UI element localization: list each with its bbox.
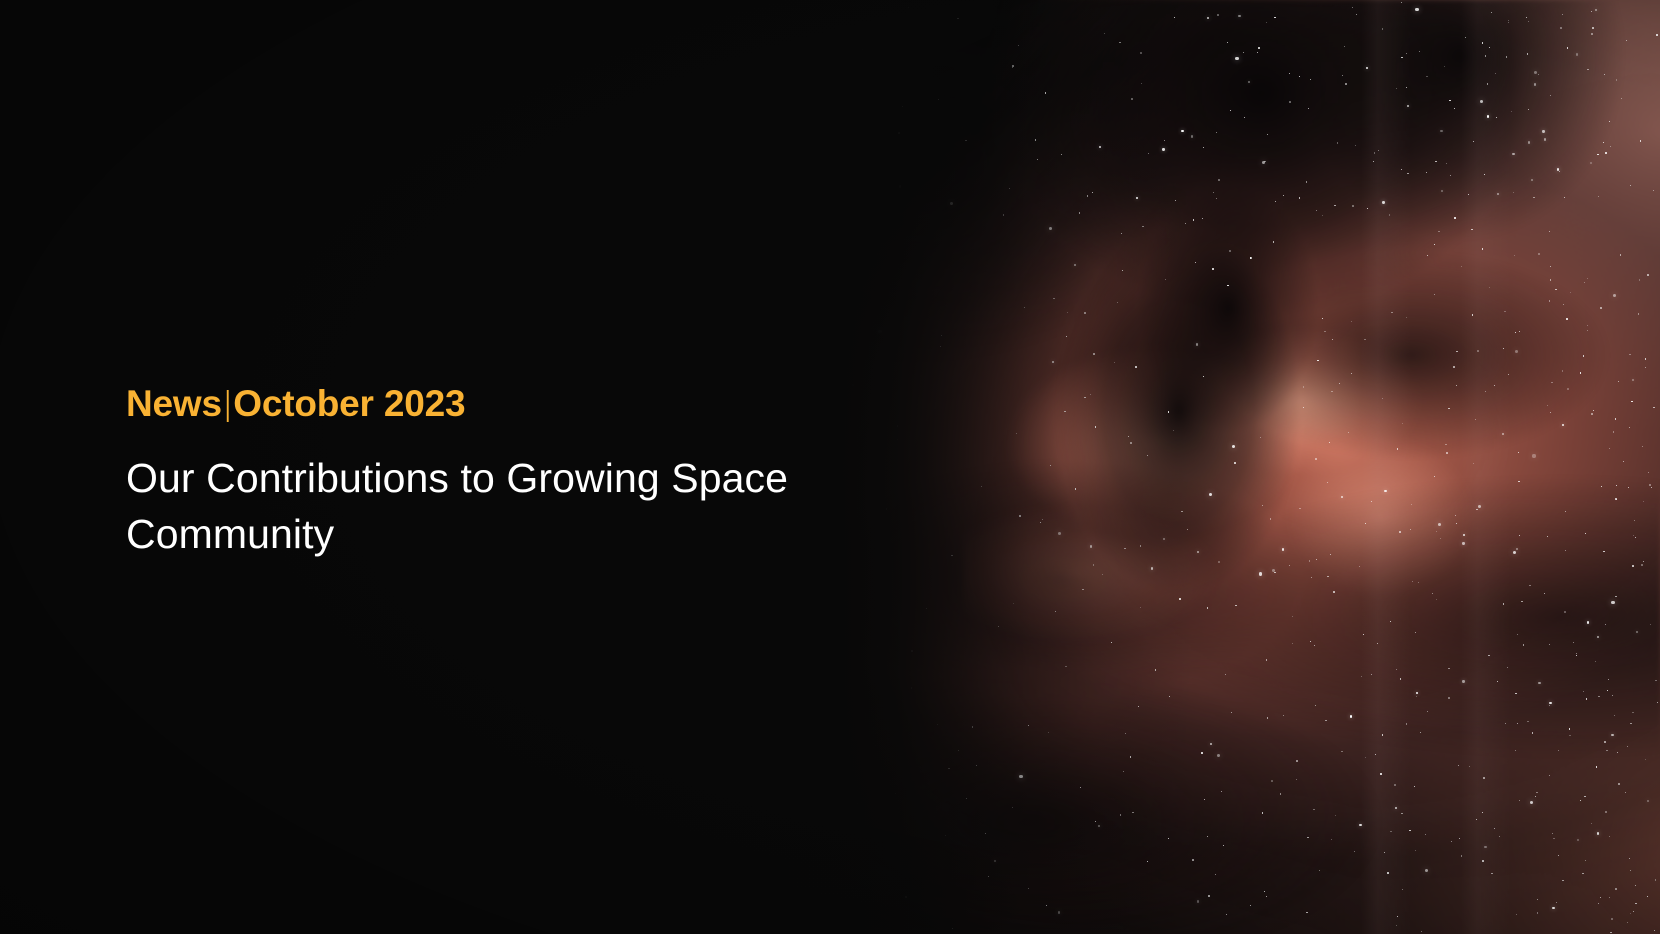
eyebrow-line: News|October 2023 [126,385,886,424]
news-hero-banner: News|October 2023 Our Contributions to G… [0,0,1660,934]
eyebrow-category: News [126,383,222,424]
page-title: Our Contributions to Growing Space Commu… [126,451,886,563]
eyebrow-date: October 2023 [233,383,465,424]
eyebrow-separator: | [225,387,231,423]
hero-text-block: News|October 2023 Our Contributions to G… [126,385,886,562]
